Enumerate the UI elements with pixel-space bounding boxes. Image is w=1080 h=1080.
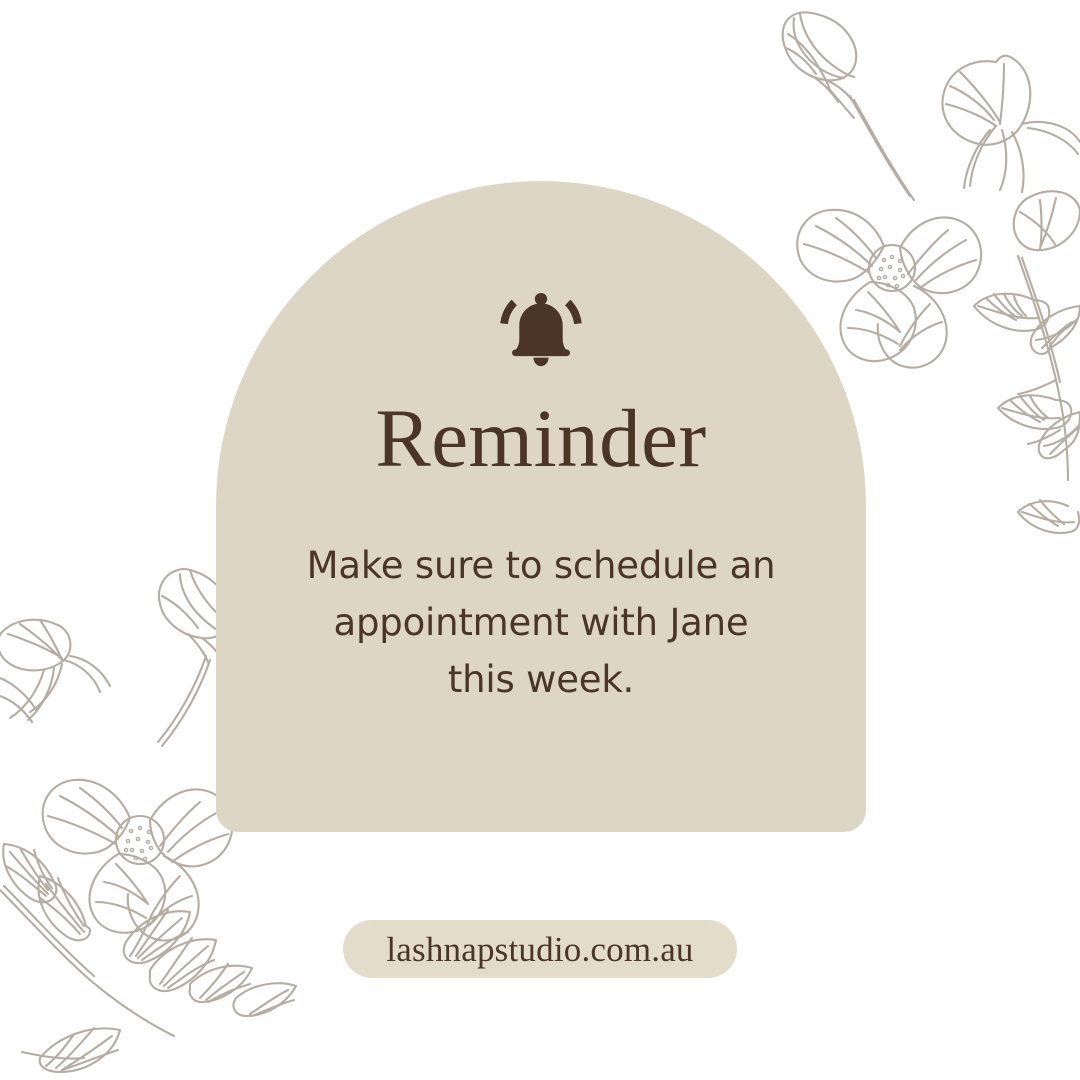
leaf-icon — [998, 395, 1071, 429]
reminder-message-line: Make sure to schedule an — [280, 537, 802, 594]
leaf-icon — [40, 1028, 120, 1072]
leaf-icon — [124, 910, 190, 963]
post-canvas: Reminder Make sure to schedule an appoin… — [0, 0, 1080, 1080]
leaf-icon — [190, 964, 252, 1002]
website-url-text: lashnapstudio.com.au — [386, 932, 693, 967]
bell-icon — [495, 285, 587, 371]
flower-blossom-icon — [942, 56, 1080, 192]
leaf-icon — [234, 983, 297, 1016]
flower-blossom-icon — [797, 210, 981, 368]
page-title: Reminder — [216, 397, 866, 480]
leaf-icon — [1039, 412, 1080, 458]
leaf-icon — [1018, 500, 1079, 533]
reminder-arch-card: Reminder Make sure to schedule an appoin… — [216, 181, 866, 832]
leaf-icon — [150, 938, 216, 991]
flower-blossom-icon — [0, 620, 110, 722]
website-url-pill[interactable]: lashnapstudio.com.au — [343, 920, 737, 978]
reminder-message-line: appointment with Jane — [280, 594, 802, 651]
flower-blossom-icon — [1014, 191, 1080, 250]
leaf-icon — [38, 876, 90, 940]
leaf-icon — [974, 294, 1049, 331]
flower-bud-icon — [783, 12, 857, 118]
reminder-message: Make sure to schedule an appointment wit… — [280, 537, 802, 708]
leaf-icon — [3, 844, 56, 902]
leaf-icon — [1031, 306, 1080, 354]
flower-blossom-icon — [43, 780, 233, 941]
reminder-message-line: this week. — [280, 651, 802, 708]
